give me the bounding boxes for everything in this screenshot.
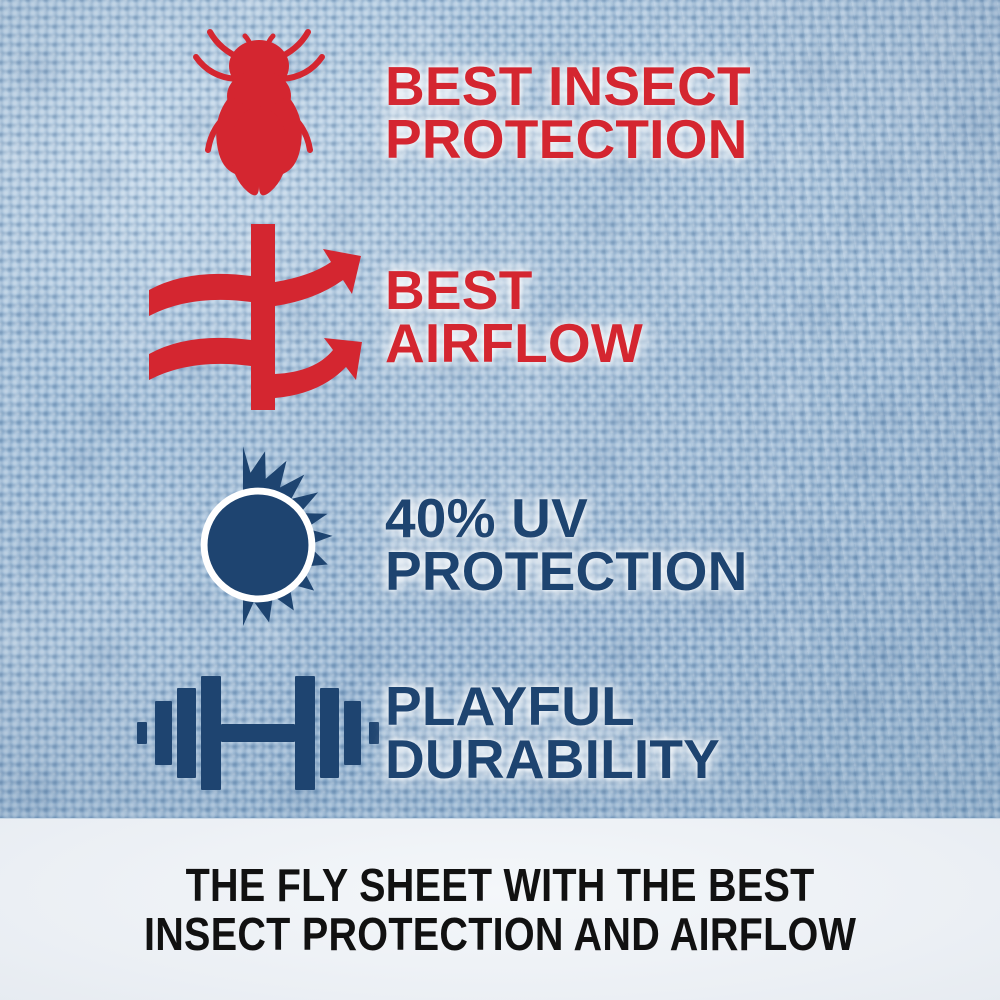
feature-label-durability: PLAYFUL DURABILITY — [385, 680, 920, 786]
feature-label-airflow: BEST AIRFLOW — [385, 264, 920, 370]
feature-row-insect-protection: BEST INSECT PROTECTION — [130, 18, 920, 208]
feature-row-durability: PLAYFUL DURABILITY — [130, 650, 920, 815]
fly-icon — [130, 22, 385, 204]
airflow-arrows-icon — [130, 224, 385, 410]
feature-label-uv-protection: 40% UV PROTECTION — [385, 492, 920, 598]
dumbbell-icon — [130, 668, 385, 798]
feature-row-uv-protection: 40% UV PROTECTION — [130, 440, 920, 650]
caption-text: THE FLY SHEET WITH THE BEST INSECT PROTE… — [123, 861, 876, 959]
caption-bar: THE FLY SHEET WITH THE BEST INSECT PROTE… — [0, 818, 1000, 1000]
infographic-canvas: BEST INSECT PROTECTION BEST AIRFLOW — [0, 0, 1000, 1000]
feature-list: BEST INSECT PROTECTION BEST AIRFLOW — [0, 0, 1000, 818]
feature-label-insect-protection: BEST INSECT PROTECTION — [385, 60, 920, 166]
feature-row-airflow: BEST AIRFLOW — [130, 222, 920, 412]
sun-uv-icon — [130, 447, 385, 643]
